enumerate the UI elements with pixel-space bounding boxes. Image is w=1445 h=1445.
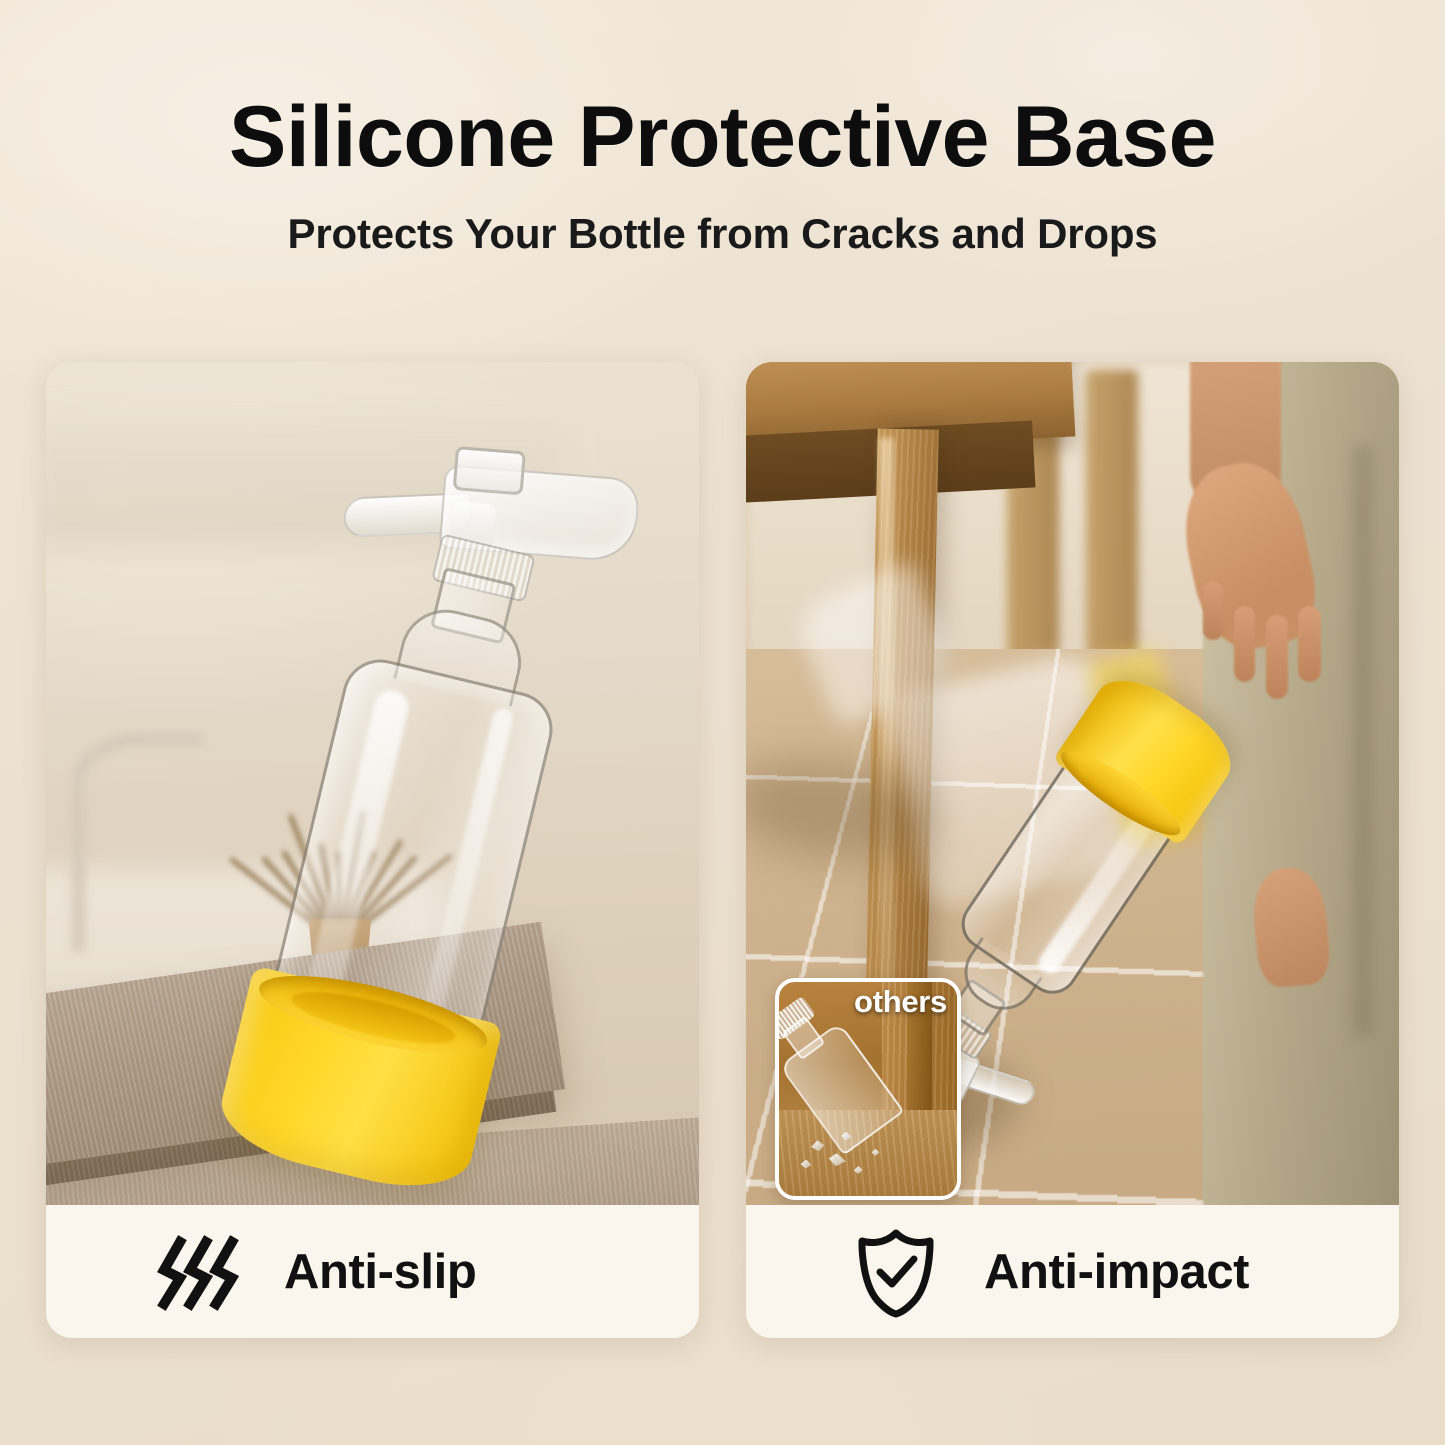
photo-anti-impact: others	[746, 362, 1399, 1205]
feature-label-anti-impact: Anti-impact	[984, 1244, 1249, 1300]
shield-check-icon	[850, 1226, 942, 1318]
sprayer-nozzle	[453, 446, 526, 495]
finger-3	[1234, 606, 1255, 682]
page-title: Silicone Protective Base	[0, 92, 1445, 182]
label-bar-anti-impact: Anti-impact	[746, 1205, 1399, 1338]
feature-card-anti-impact: others Anti-impact	[746, 362, 1399, 1338]
label-bar-anti-slip: Anti-slip	[46, 1205, 699, 1338]
faucet-icon	[72, 733, 203, 952]
others-comparison-inset[interactable]: others	[775, 978, 961, 1200]
inset-label-others: others	[854, 984, 947, 1020]
page-subtitle: Protects Your Bottle from Cracks and Dro…	[0, 210, 1445, 258]
photo-anti-slip	[46, 362, 699, 1205]
finger-2	[1266, 615, 1288, 699]
header: Silicone Protective Base Protects Your B…	[0, 0, 1445, 258]
feature-card-anti-slip: Anti-slip	[46, 362, 699, 1338]
feature-label-anti-slip: Anti-slip	[284, 1244, 476, 1300]
trouser-fold	[1353, 446, 1373, 1036]
finger-1	[1298, 606, 1320, 682]
finger-4	[1203, 581, 1223, 640]
zigzag-wave-icon	[150, 1226, 242, 1318]
infographic-page: Silicone Protective Base Protects Your B…	[0, 0, 1445, 1445]
